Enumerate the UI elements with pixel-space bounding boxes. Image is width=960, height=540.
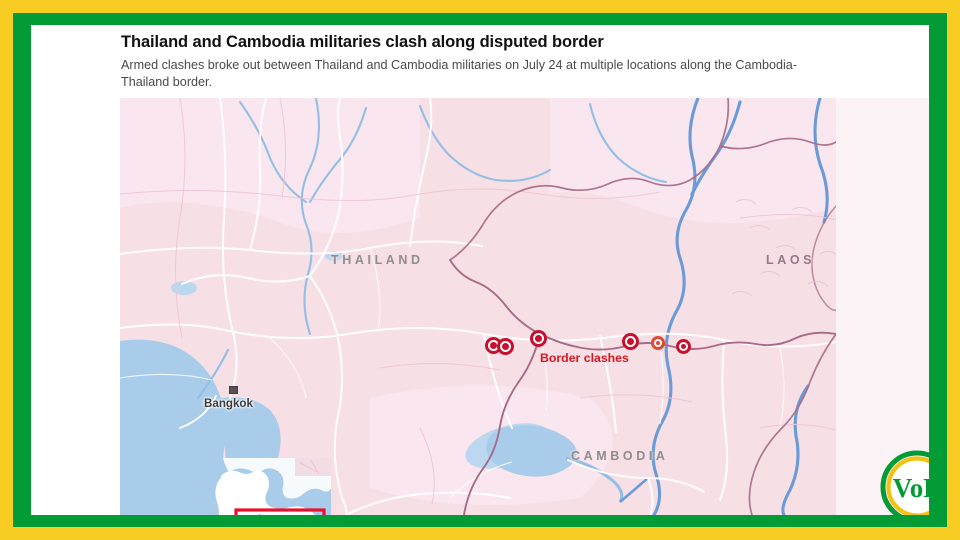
header: Thailand and Cambodia militaries clash a…: [31, 25, 929, 98]
country-label-laos: LAOS: [766, 253, 815, 267]
clash-marker[interactable]: [676, 339, 691, 354]
inset-locator-map: [199, 458, 331, 515]
map-geometry: [120, 98, 836, 515]
clash-marker[interactable]: [651, 336, 665, 350]
country-label-cambodia: CAMBODIA: [571, 449, 669, 463]
infographic-card: Thailand and Cambodia militaries clash a…: [31, 25, 929, 515]
clash-annotation-label: Border clashes: [540, 351, 629, 365]
city-label-bangkok: Bangkok: [204, 397, 253, 410]
clash-marker[interactable]: [622, 333, 639, 350]
voe-logo-text: VoE: [893, 473, 929, 503]
page-title: Thailand and Cambodia militaries clash a…: [121, 33, 901, 52]
voe-logo-icon: VoE: [880, 450, 929, 515]
map-image[interactable]: [120, 98, 836, 515]
voe-logo[interactable]: VoE: [880, 450, 929, 515]
map-left-padding: [31, 98, 120, 515]
clash-marker[interactable]: [530, 330, 547, 347]
city-marker-bangkok: [229, 386, 238, 394]
map-container[interactable]: THAILAND LAOS CAMBODIA Bangkok Phnom Pen…: [31, 98, 929, 515]
page-subtitle: Armed clashes broke out between Thailand…: [121, 57, 821, 91]
country-label-thailand: THAILAND: [331, 253, 424, 267]
clash-marker[interactable]: [497, 338, 514, 355]
